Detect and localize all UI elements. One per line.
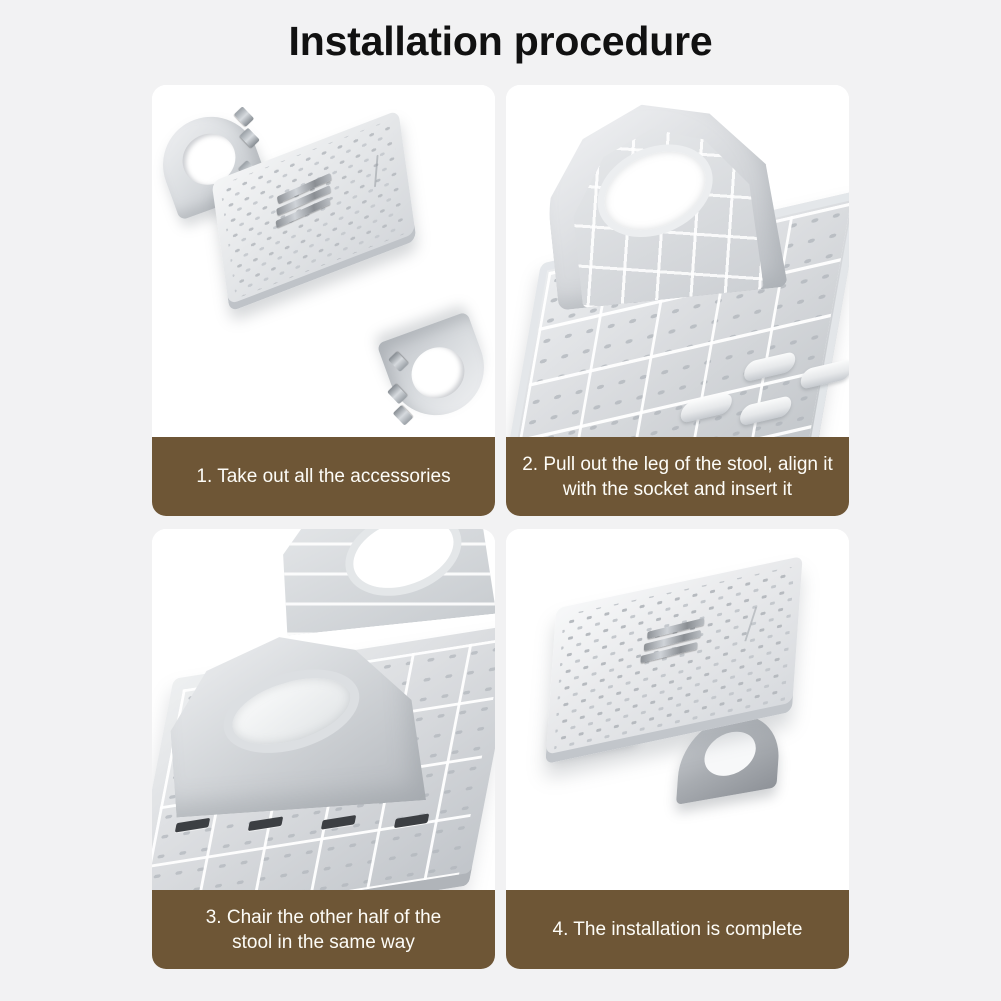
step-card-1[interactable]: 1. Take out all the accessories — [152, 85, 495, 516]
connector-tab — [388, 351, 408, 372]
step-2-photo — [506, 85, 849, 437]
connector-tab — [234, 106, 254, 127]
step-4-caption-line-1: 4. The installation is complete — [553, 917, 803, 942]
stool-leg-far — [272, 529, 495, 636]
connector-tab — [239, 128, 259, 149]
step-1-caption-line-1: 1. Take out all the accessories — [196, 464, 450, 489]
step-card-2[interactable]: 2. Pull out the leg of the stool, align … — [506, 85, 849, 516]
cylindrical-rib — [679, 392, 733, 424]
cylindrical-rib — [799, 358, 849, 390]
connector-tab — [393, 405, 413, 426]
steps-grid: 1. Take out all the accessories — [152, 85, 849, 969]
leg-insertion-illustration — [506, 85, 849, 437]
stool-leg-being-inserted — [538, 88, 788, 311]
socket-slot — [175, 818, 210, 833]
step-2-caption: 2. Pull out the leg of the stool, align … — [506, 437, 849, 516]
leg-connector-tabs — [377, 311, 495, 428]
step-1-photo — [152, 85, 495, 437]
socket-slot — [248, 816, 283, 831]
stool-leg-right-part — [377, 311, 495, 428]
step-2-caption-line-1: 2. Pull out the leg of the stool, align … — [522, 452, 833, 477]
step-1-caption: 1. Take out all the accessories — [152, 437, 495, 516]
step-3-photo — [152, 529, 495, 890]
assembled-stool-illustration — [506, 529, 849, 890]
cylindrical-rib — [739, 395, 793, 427]
step-4-photo — [506, 529, 849, 890]
connector-tab — [387, 384, 407, 405]
step-card-4[interactable]: 4. The installation is complete — [506, 529, 849, 969]
step-card-3[interactable]: 3. Chair the other half of the stool in … — [152, 529, 495, 969]
socket-slot — [394, 813, 429, 828]
step-3-caption-line-1: 3. Chair the other half of the — [206, 905, 442, 930]
step-2-caption-line-2: with the socket and insert it — [522, 477, 833, 502]
step-3-caption: 3. Chair the other half of the stool in … — [152, 890, 495, 969]
exploded-parts-illustration — [152, 85, 495, 437]
cylindrical-rib — [743, 351, 797, 383]
step-4-caption: 4. The installation is complete — [506, 890, 849, 969]
page-title: Installation procedure — [0, 18, 1001, 65]
installation-procedure-page: Installation procedure — [0, 0, 1001, 1001]
step-3-caption-line-2: stool in the same way — [206, 930, 442, 955]
second-leg-illustration — [152, 529, 495, 890]
socket-slot — [321, 815, 356, 830]
